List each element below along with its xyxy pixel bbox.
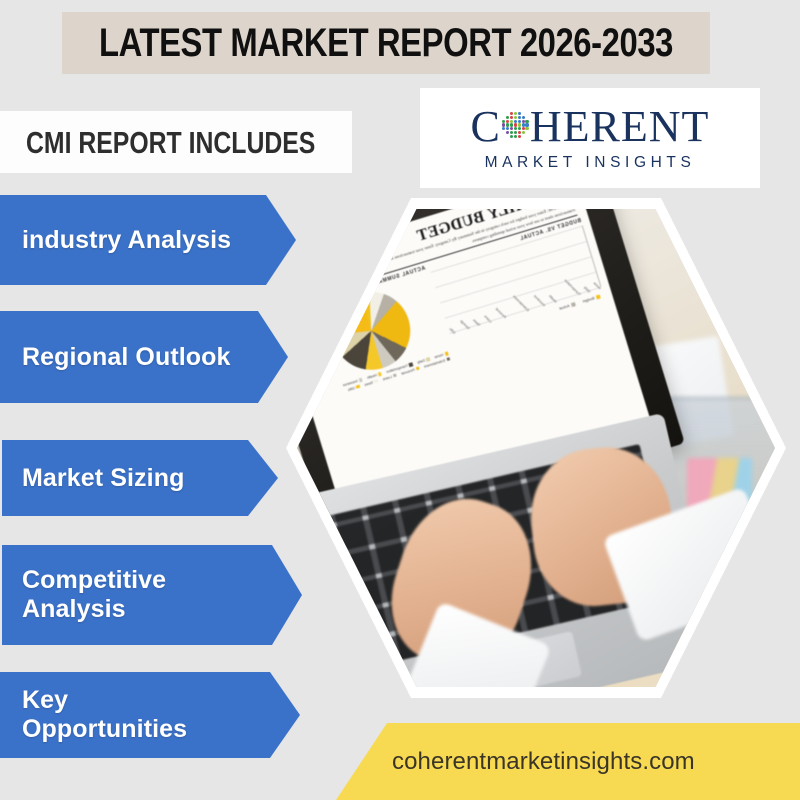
hexagon-photo-clip: MONTHLY BUDGET HOW TO USE: Enter your bu… [297,209,775,687]
photo-laptop-desk: MONTHLY BUDGET HOW TO USE: Enter your bu… [297,209,775,687]
bullet-item-2[interactable]: Regional Outlook [0,311,288,403]
bullet-item-5[interactable]: Key Opportunities [0,672,300,758]
hero-photo: MONTHLY BUDGET HOW TO USE: Enter your bu… [286,198,786,698]
bullet-item-label: Market Sizing [22,464,184,493]
bullet-item-label: industry Analysis [22,226,231,255]
website-url[interactable]: coherentmarketinsights.com [392,748,695,776]
logo-letter-c: C [471,105,501,149]
bullet-item-3[interactable]: Market Sizing [2,440,278,516]
bullet-item-label: Regional Outlook [22,343,231,372]
legend-entry: Taxes [364,379,379,387]
section-label: CMI REPORT INCLUDES [26,127,315,158]
legend-entry: Loans [382,373,397,381]
bullet-item-label: Competitive Analysis [22,566,166,624]
header-band: LATEST MARKET REPORT 2026-2033 [62,12,710,74]
footer-band: coherentmarketinsights.com [336,723,800,800]
logo-wordmark: C HERENT [471,105,710,149]
logo-tagline: MARKET INSIGHTS [485,154,696,172]
globe-dots-icon [502,112,529,139]
page-title: LATEST MARKET REPORT 2026-2033 [99,23,673,63]
bullet-item-4[interactable]: Competitive Analysis [2,545,302,645]
logo-wordmark-rest: HERENT [530,105,710,149]
bullet-item-label: Key Opportunities [22,686,187,744]
bullet-item-1[interactable]: industry Analysis [0,195,296,285]
poster-canvas: LATEST MARKET REPORT 2026-2033 CMI REPOR… [0,0,800,800]
brand-logo: C HERENT MARKET INSIGHTS [420,88,760,188]
section-label-box: CMI REPORT INCLUDES [0,111,352,173]
